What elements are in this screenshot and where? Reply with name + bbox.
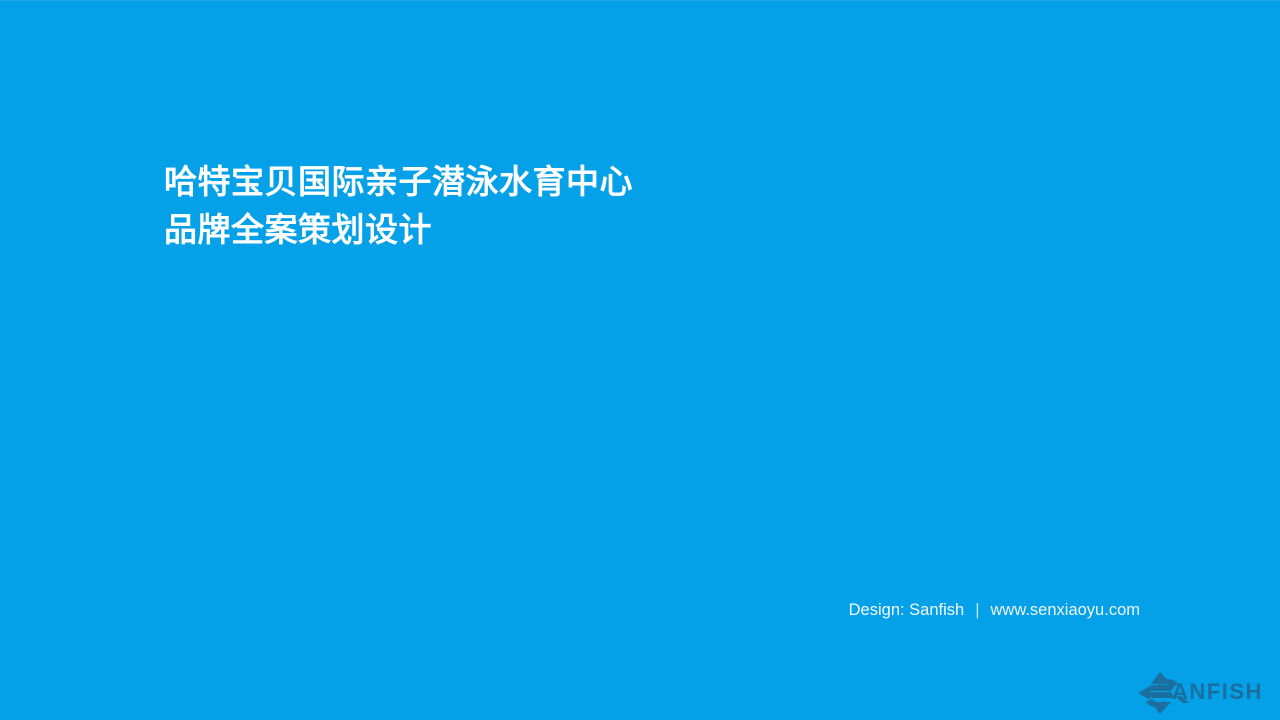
website-url[interactable]: www.senxiaoyu.com bbox=[991, 598, 1140, 622]
credit-separator: | bbox=[975, 598, 979, 622]
title-line-secondary: 品牌全案策划设计 bbox=[164, 206, 804, 254]
designer-credit: Design: Sanfish bbox=[849, 598, 965, 622]
footer-credit: Design: Sanfish | www.senxiaoyu.com bbox=[849, 598, 1140, 622]
presentation-cover-slide: 哈特宝贝国际亲子潜泳水育中心 品牌全案策划设计 Design: Sanfish … bbox=[0, 0, 1280, 720]
page-title: 哈特宝贝国际亲子潜泳水育中心 品牌全案策划设计 bbox=[164, 158, 804, 254]
sanfish-wordmark: ANFISH bbox=[1172, 681, 1263, 703]
title-line-primary: 哈特宝贝国际亲子潜泳水育中心 bbox=[164, 158, 804, 206]
